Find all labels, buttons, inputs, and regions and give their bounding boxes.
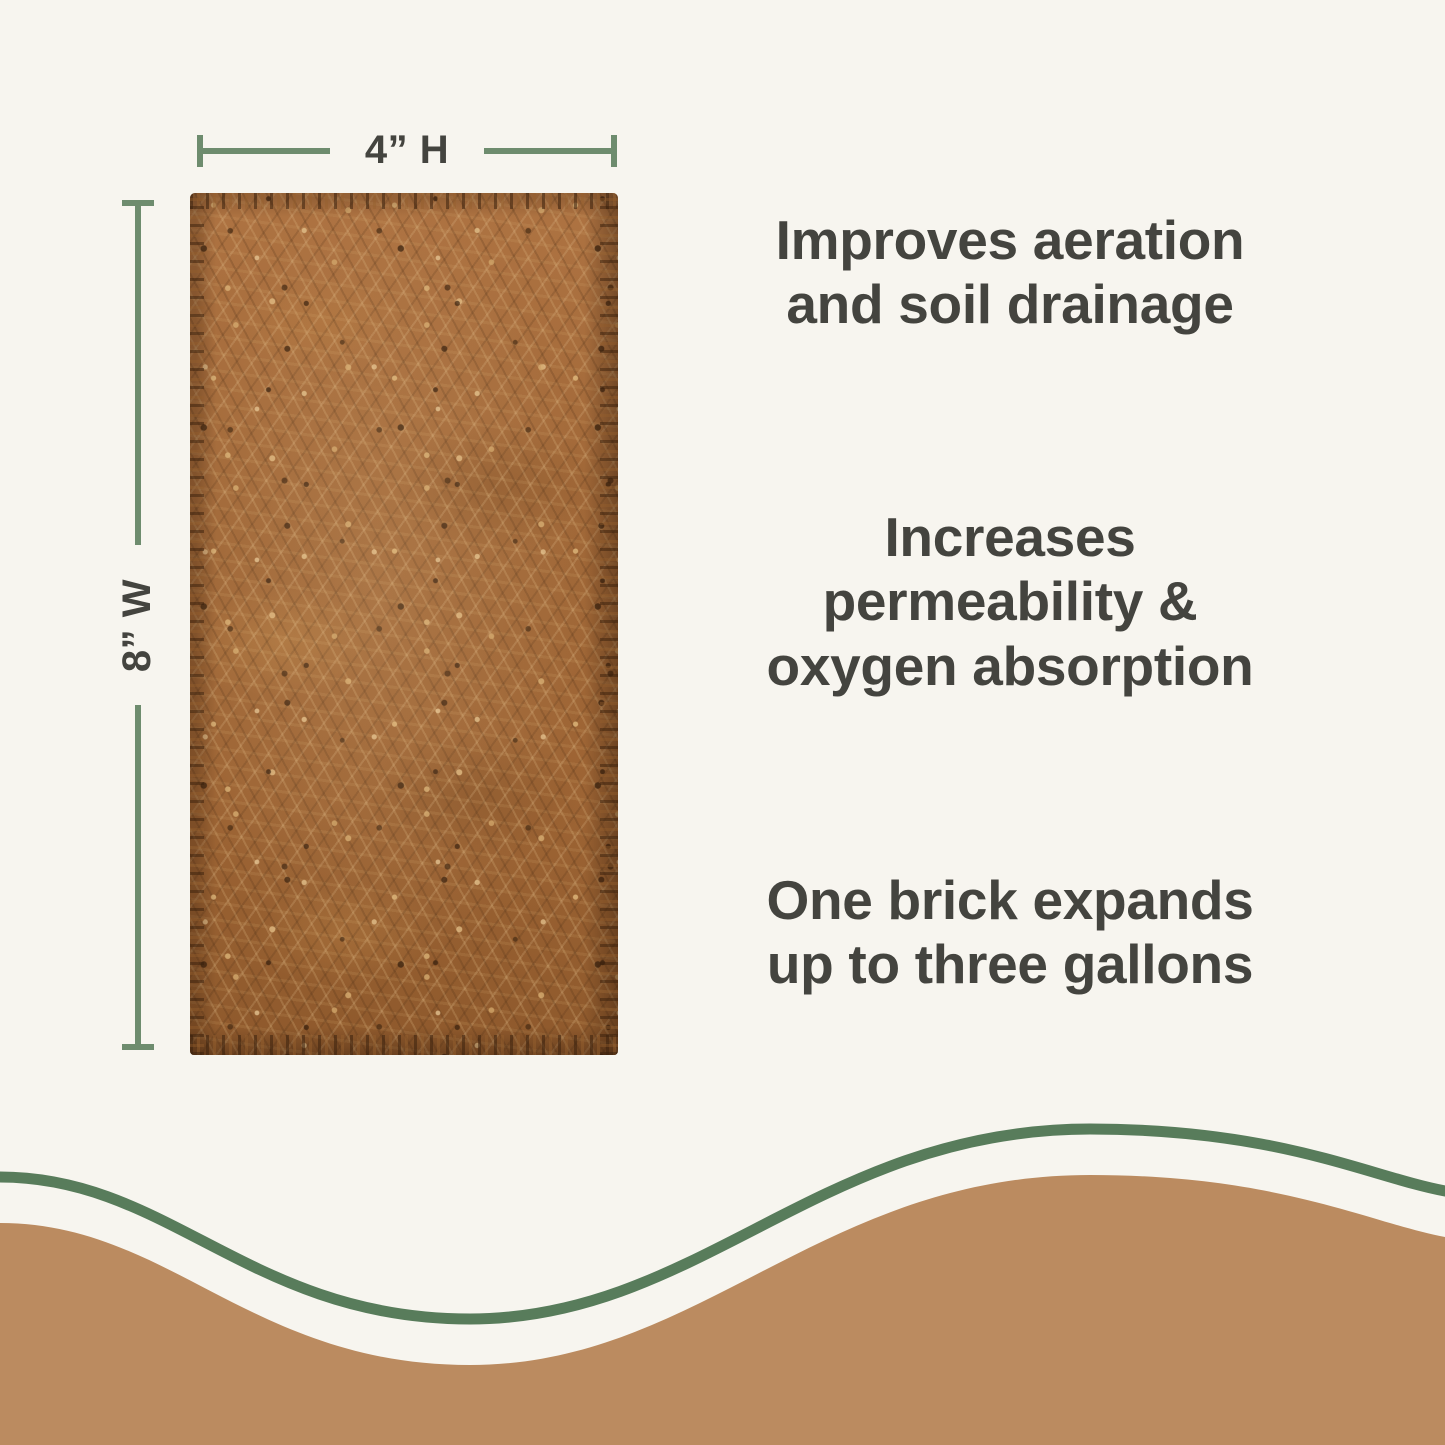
benefit-line: and soil drainage bbox=[690, 272, 1330, 336]
benefit-line: Increases bbox=[690, 505, 1330, 569]
benefit-text-permeability: Increases permeability & oxygen absorpti… bbox=[690, 505, 1330, 698]
dimension-label-width: 4” H bbox=[330, 118, 484, 182]
benefit-line: up to three gallons bbox=[690, 932, 1330, 996]
bottom-wave-divider bbox=[0, 1115, 1445, 1445]
wave-fill-tan bbox=[0, 1175, 1445, 1445]
dimension-cap-right bbox=[611, 135, 617, 167]
dimension-cap-top bbox=[122, 200, 154, 206]
benefit-line: permeability & bbox=[690, 569, 1330, 633]
brick-edge-top bbox=[190, 193, 618, 209]
brick-shading bbox=[190, 193, 618, 1055]
benefit-line: One brick expands bbox=[690, 868, 1330, 932]
brick-edge-left bbox=[190, 193, 204, 1055]
dimension-label-height: 8” W bbox=[96, 545, 180, 705]
benefit-line: Improves aeration bbox=[690, 208, 1330, 272]
dimension-label-height-text: 8” W bbox=[116, 578, 161, 671]
benefit-line: oxygen absorption bbox=[690, 634, 1330, 698]
coco-coir-brick-image bbox=[190, 193, 618, 1055]
dimension-cap-bottom bbox=[122, 1044, 154, 1050]
benefit-text-aeration: Improves aeration and soil drainage bbox=[690, 208, 1330, 337]
brick-edge-right bbox=[600, 193, 618, 1055]
brick-edge-bottom bbox=[190, 1035, 618, 1055]
benefit-text-expansion: One brick expands up to three gallons bbox=[690, 868, 1330, 997]
dimension-cap-left bbox=[197, 135, 203, 167]
product-infographic: 4” H 8” W Improves aeration and soil dra… bbox=[0, 0, 1445, 1445]
